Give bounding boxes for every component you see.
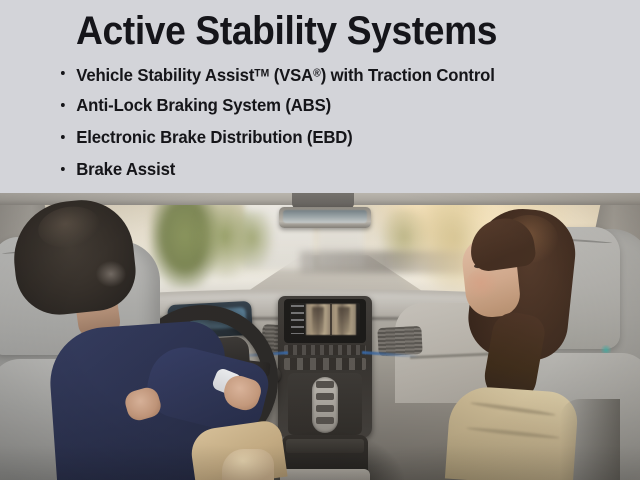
feature-bullet-list: Vehicle Stability AssistTM (VSA®) with T… [60,60,620,188]
bullet-text-ebd: Electronic Brake Distribution (EBD) [76,127,352,147]
page-title: Active Stability Systems [76,8,497,54]
audio-button-row[interactable] [284,358,366,370]
bullet-text-part: Vehicle Stability Assist [76,65,254,85]
driver-graying-temple [96,261,126,287]
gear-button-neutral[interactable] [316,405,334,412]
cabin-watch-rear-passenger [338,307,350,333]
bullet-dot-icon [61,135,65,139]
bullet-dot-icon [61,103,65,107]
screen-side-icons[interactable] [291,305,304,334]
passenger-shadow [560,399,620,480]
list-item: Vehicle Stability AssistTM (VSA®) with T… [60,60,595,92]
gear-button-reverse[interactable] [316,393,334,400]
cupholder-tray [280,469,370,480]
bullet-text-part: ) with Traction Control [321,65,495,85]
gear-button-park[interactable] [316,381,334,388]
driver-knee [222,449,274,480]
list-item: Electronic Brake Distribution (EBD) [60,124,595,156]
trademark-icon: TM [254,67,269,79]
bullet-text-part: (VSA [269,65,313,85]
slide-text-block: Active Stability Systems Vehicle Stabili… [0,0,640,193]
car-interior-photo [0,193,640,480]
gear-button-drive[interactable] [316,417,334,424]
registered-icon: ® [313,67,321,79]
cabin-watch-rear-passenger [312,307,324,333]
bullet-text-vsa: Vehicle Stability AssistTM (VSA®) with T… [76,65,495,85]
climate-button-row[interactable] [284,345,366,355]
list-item: Anti-Lock Braking System (ABS) [60,92,595,124]
cabin-watch-split-divider [330,304,332,335]
console-trim-panel [286,439,364,453]
rearview-mirror-glass [283,210,367,223]
list-item: Brake Assist [60,156,595,188]
bullet-dot-icon [61,167,65,171]
passenger-cheek [466,269,498,299]
bullet-dot-icon [61,71,65,75]
bullet-text-abs: Anti-Lock Braking System (ABS) [76,95,331,115]
bullet-text-brake-assist: Brake Assist [76,159,175,179]
presentation-slide: Active Stability Systems Vehicle Stabili… [0,0,640,480]
